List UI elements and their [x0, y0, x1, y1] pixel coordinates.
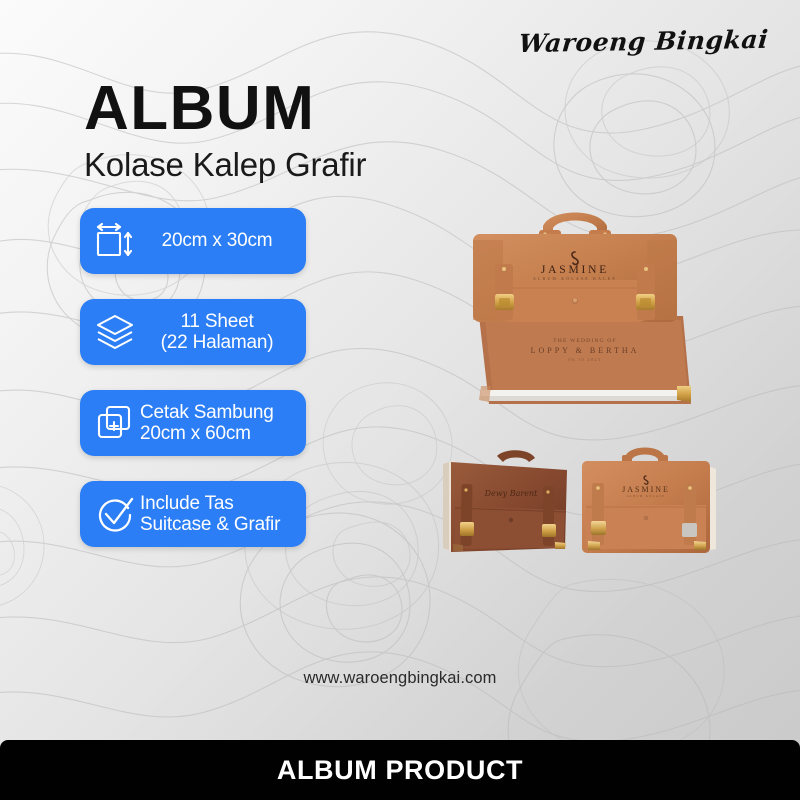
feature-badge-cetak-sambung: Cetak Sambung 20cm x 60cm	[80, 390, 306, 456]
feature-badge-cetak-sambung-label: Cetak Sambung 20cm x 60cm	[138, 402, 294, 445]
sheets-stack-icon	[92, 309, 138, 355]
product-photo-dark-suitcase: Dewy Barent	[425, 448, 580, 563]
svg-text:JASMINE: JASMINE	[541, 264, 609, 276]
feature-badge-include-tas: Include Tas Suitcase & Grafir	[80, 481, 306, 547]
dimensions-icon	[92, 218, 138, 264]
feature-badge-sheets: 11 Sheet (22 Halaman)	[80, 299, 306, 365]
page-title: ALBUM	[84, 78, 315, 140]
product-photo-tan-suitcase: JASMINE ALBUM KOLASE	[568, 443, 728, 568]
svg-text:ALBUM KOLASE KALEP: ALBUM KOLASE KALEP	[533, 277, 617, 281]
svg-text:THE WEDDING OF: THE WEDDING OF	[553, 338, 616, 344]
feature-badge-sheets-label: 11 Sheet (22 Halaman)	[138, 311, 294, 354]
brand-logo: Waroeng Bingkai	[517, 25, 769, 58]
poster-canvas: Waroeng Bingkai ALBUM Kolase Kalep Grafi…	[0, 0, 800, 800]
feature-badge-include-tas-label: Include Tas Suitcase & Grafir	[138, 493, 294, 536]
album-open-body: THE WEDDING OF LOPPY & BERTHA 06.10.2023	[479, 316, 691, 404]
svg-text:06.10.2023: 06.10.2023	[569, 357, 602, 362]
check-circle-icon	[92, 491, 138, 537]
feature-badge-dimensions-label: 20cm x 30cm	[138, 230, 294, 251]
feature-badge-list: 20cm x 30cm 11 Sheet (22 Halaman)	[80, 208, 306, 547]
product-photo-main: THE WEDDING OF LOPPY & BERTHA 06.10.2023	[455, 190, 695, 420]
bottom-banner: ALBUM PRODUCT	[0, 740, 800, 800]
bottom-banner-label: ALBUM PRODUCT	[277, 755, 523, 786]
website-url: www.waroengbingkai.com	[0, 669, 800, 688]
svg-text:ALBUM KOLASE: ALBUM KOLASE	[627, 495, 666, 498]
page-subtitle: Kolase Kalep Grafir	[84, 146, 366, 184]
svg-text:Dewy Barent: Dewy Barent	[484, 489, 538, 498]
suitcase-top: JASMINE ALBUM KOLASE KALEP	[473, 213, 677, 323]
feature-badge-dimensions: 20cm x 30cm	[80, 208, 306, 274]
svg-text:JASMINE: JASMINE	[622, 485, 670, 494]
svg-text:LOPPY & BERTHA: LOPPY & BERTHA	[531, 346, 640, 355]
copy-plus-icon	[92, 400, 138, 446]
